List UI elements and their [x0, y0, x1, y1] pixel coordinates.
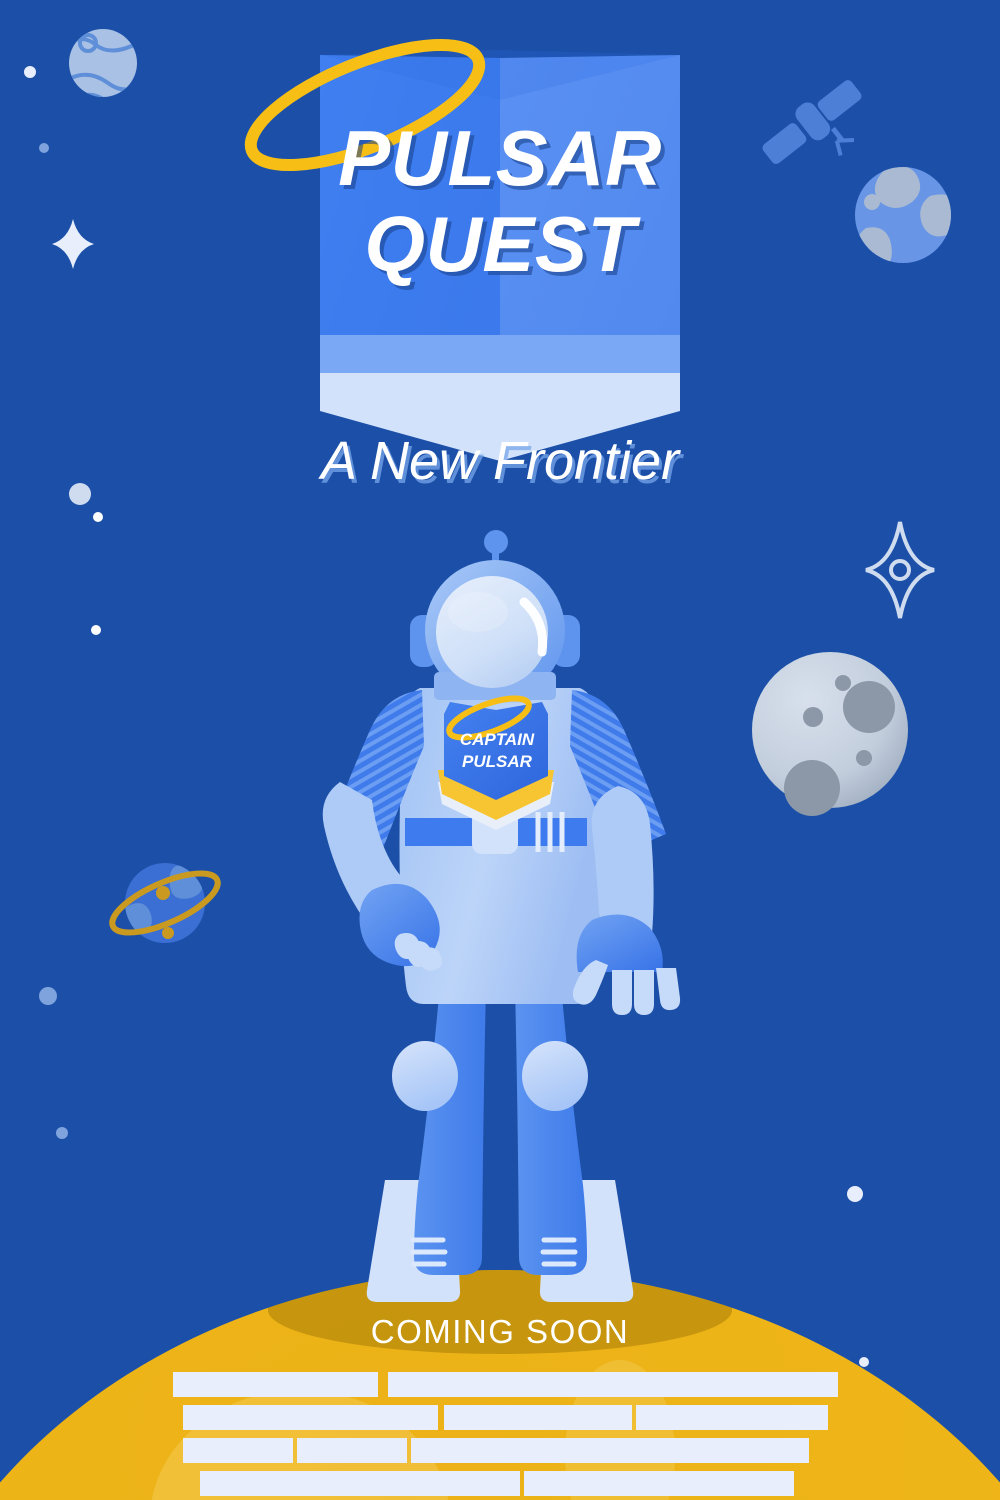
placeholder-text-bars	[0, 0, 1000, 1500]
placeholder-bar	[444, 1405, 632, 1430]
placeholder-bar	[388, 1372, 838, 1397]
placeholder-bar	[200, 1471, 520, 1496]
placeholder-bar	[411, 1438, 809, 1463]
placeholder-bar	[183, 1438, 293, 1463]
placeholder-bar	[173, 1372, 378, 1397]
placeholder-bar	[636, 1405, 828, 1430]
placeholder-bar	[183, 1405, 438, 1430]
placeholder-bar	[524, 1471, 794, 1496]
poster-canvas: CAPTAIN PULSAR PULSAR QUEST	[0, 0, 1000, 1500]
placeholder-bar	[297, 1438, 407, 1463]
